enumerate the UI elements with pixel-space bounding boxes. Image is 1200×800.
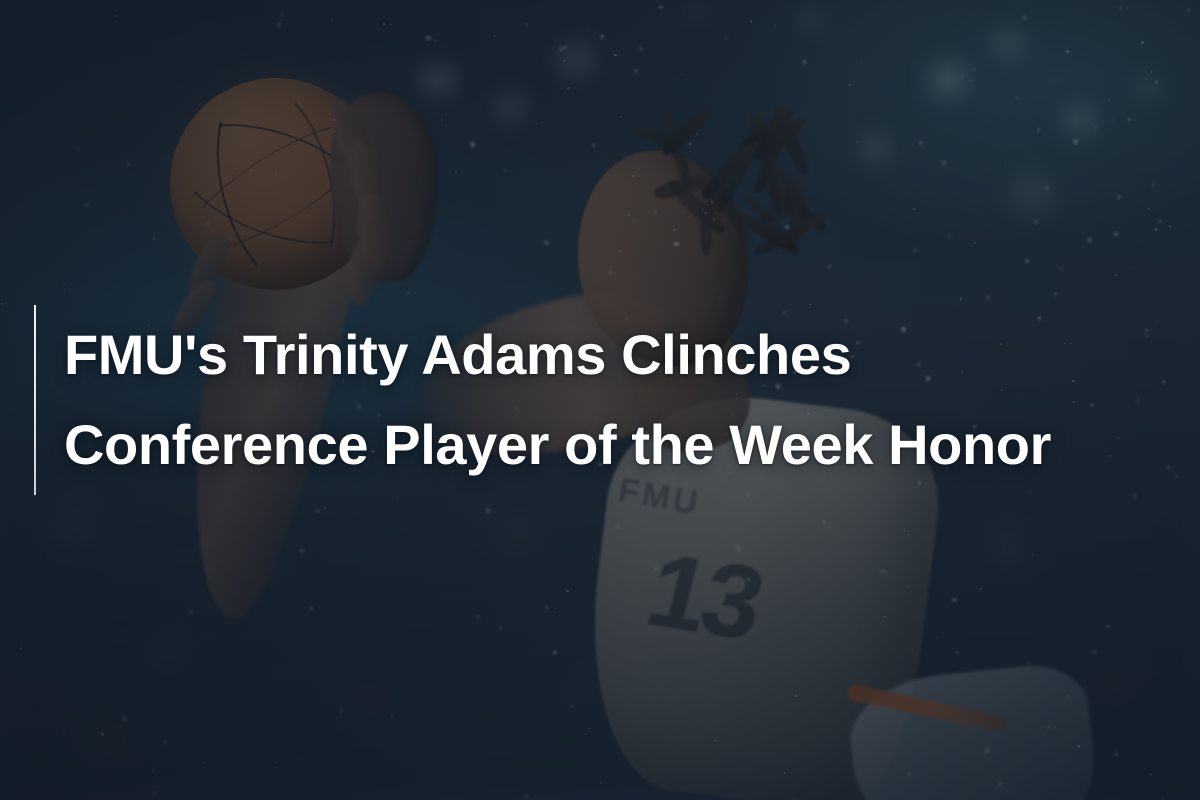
- headline-block: FMU's Trinity Adams Clinches Conference …: [34, 305, 1124, 495]
- page-title: FMU's Trinity Adams Clinches Conference …: [36, 310, 1124, 490]
- hero-banner: FMU 13 FMU's Trinity Adams Clinches Conf…: [0, 0, 1200, 800]
